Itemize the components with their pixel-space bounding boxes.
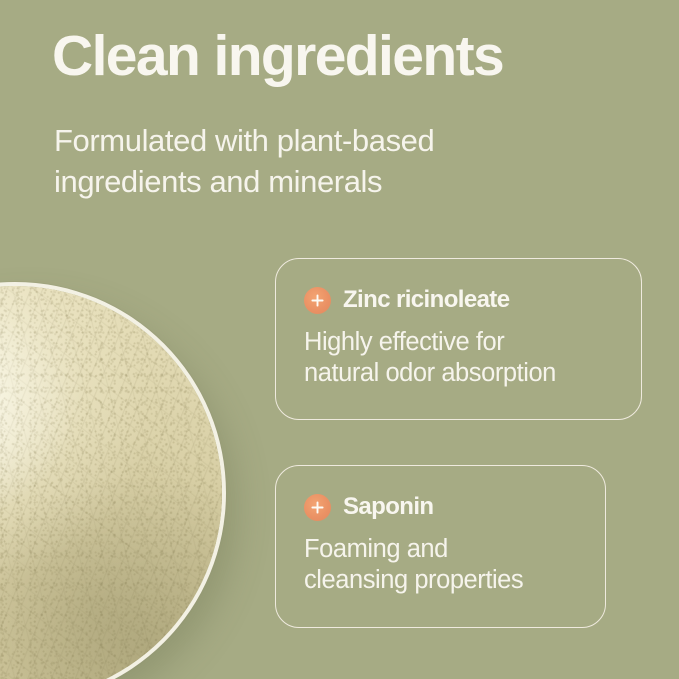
- ingredient-card-description-line-1: Foaming and: [304, 534, 523, 565]
- ingredient-card-saponin[interactable]: Saponin Foaming and cleansing properties: [275, 465, 606, 628]
- page-subtitle: Formulated with plant-based ingredients …: [54, 120, 574, 202]
- ingredient-card-title: Saponin: [343, 493, 433, 521]
- page-title: Clean ingredients: [52, 28, 652, 85]
- ingredient-card-description: Highly effective for natural odor absorp…: [304, 327, 556, 390]
- page-subtitle-line-1: Formulated with plant-based: [54, 120, 574, 161]
- powder-bowl-image: [0, 286, 222, 679]
- powder-sheen-overlay: [0, 286, 222, 679]
- plus-icon: [304, 494, 331, 521]
- ingredient-card-description: Foaming and cleansing properties: [304, 534, 523, 597]
- product-feature-graphic: Clean ingredients Formulated with plant-…: [0, 0, 679, 679]
- ingredient-card-zinc-ricinoleate[interactable]: Zinc ricinoleate Highly effective for na…: [275, 258, 642, 420]
- ingredient-card-header: Zinc ricinoleate: [304, 286, 509, 314]
- ingredient-card-description-line-2: natural odor absorption: [304, 358, 556, 389]
- ingredient-card-description-line-1: Highly effective for: [304, 327, 556, 358]
- plus-icon: [304, 287, 331, 314]
- ingredient-card-description-line-2: cleansing properties: [304, 565, 523, 596]
- ingredient-card-title: Zinc ricinoleate: [343, 286, 509, 314]
- page-subtitle-line-2: ingredients and minerals: [54, 161, 574, 202]
- ingredient-card-header: Saponin: [304, 493, 433, 521]
